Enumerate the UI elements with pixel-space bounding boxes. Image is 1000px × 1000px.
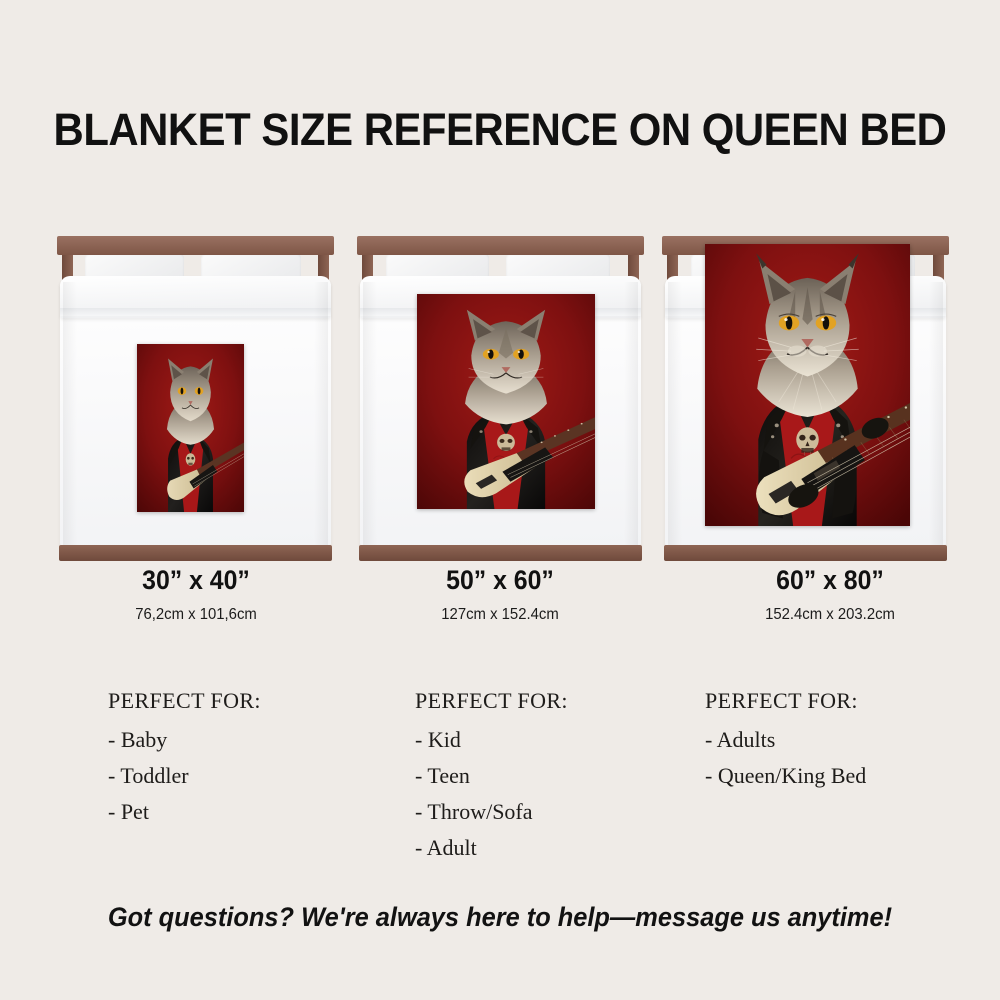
list-item: - Pet [108, 794, 261, 830]
page-title: BLANKET SIZE REFERENCE ON QUEEN BED [35, 104, 965, 156]
size-inches: 50” x 60” [371, 565, 629, 596]
perfect-for-column-60x80: PERFECT FOR: - Adults - Queen/King Bed [705, 688, 866, 794]
perfect-for-heading: PERFECT FOR: [705, 688, 866, 714]
infographic-canvas: BLANKET SIZE REFERENCE ON QUEEN BED [0, 0, 1000, 1000]
list-item: - Kid [415, 722, 568, 758]
bed-row [0, 236, 1000, 561]
perfect-for-column-30x40: PERFECT FOR: - Baby - Toddler - Pet [108, 688, 261, 830]
list-item: - Adults [705, 722, 866, 758]
list-item: - Queen/King Bed [705, 758, 866, 794]
footboard [664, 545, 947, 561]
duvet-crease-right [624, 282, 638, 545]
list-item: - Throw/Sofa [415, 794, 568, 830]
size-centimeters: 127cm x 152.4cm [370, 606, 630, 624]
bed-illustration-60x80 [662, 236, 949, 561]
blanket-artwork-30x40 [137, 344, 244, 512]
headboard [357, 236, 644, 255]
perfect-for-column-50x60: PERFECT FOR: - Kid - Teen - Throw/Sofa -… [415, 688, 568, 866]
duvet-crease-right [929, 282, 943, 545]
duvet-fold [60, 276, 331, 318]
size-label-row: 30” x 40” 76,2cm x 101,6cm 50” x 60” 127… [0, 565, 1000, 635]
duvet-crease-right [314, 282, 328, 545]
size-label-60x80: 60” x 80” 152.4cm x 203.2cm [690, 565, 970, 624]
size-centimeters: 152.4cm x 203.2cm [700, 606, 960, 624]
size-label-30x40: 30” x 40” 76,2cm x 101,6cm [56, 565, 336, 624]
size-centimeters: 76,2cm x 101,6cm [66, 606, 326, 624]
headboard [57, 236, 334, 255]
perfect-for-heading: PERFECT FOR: [108, 688, 261, 714]
support-cta-text: Got questions? We're always here to help… [30, 902, 970, 933]
size-label-50x60: 50” x 60” 127cm x 152.4cm [360, 565, 640, 624]
size-inches: 30” x 40” [67, 565, 325, 596]
blanket-artwork-60x80 [705, 244, 910, 526]
perfect-for-heading: PERFECT FOR: [415, 688, 568, 714]
bed-illustration-30x40 [57, 236, 334, 561]
list-item: - Teen [415, 758, 568, 794]
footboard [359, 545, 642, 561]
size-inches: 60” x 80” [701, 565, 959, 596]
list-item: - Adult [415, 830, 568, 866]
duvet-crease-left [363, 282, 377, 545]
footboard [59, 545, 332, 561]
duvet-crease-left [668, 282, 682, 545]
list-item: - Baby [108, 722, 261, 758]
list-item: - Toddler [108, 758, 261, 794]
duvet-crease-left [63, 282, 77, 545]
bed-illustration-50x60 [357, 236, 644, 561]
perfect-for-row: PERFECT FOR: - Baby - Toddler - Pet PERF… [0, 688, 1000, 868]
blanket-artwork-50x60 [417, 294, 595, 509]
